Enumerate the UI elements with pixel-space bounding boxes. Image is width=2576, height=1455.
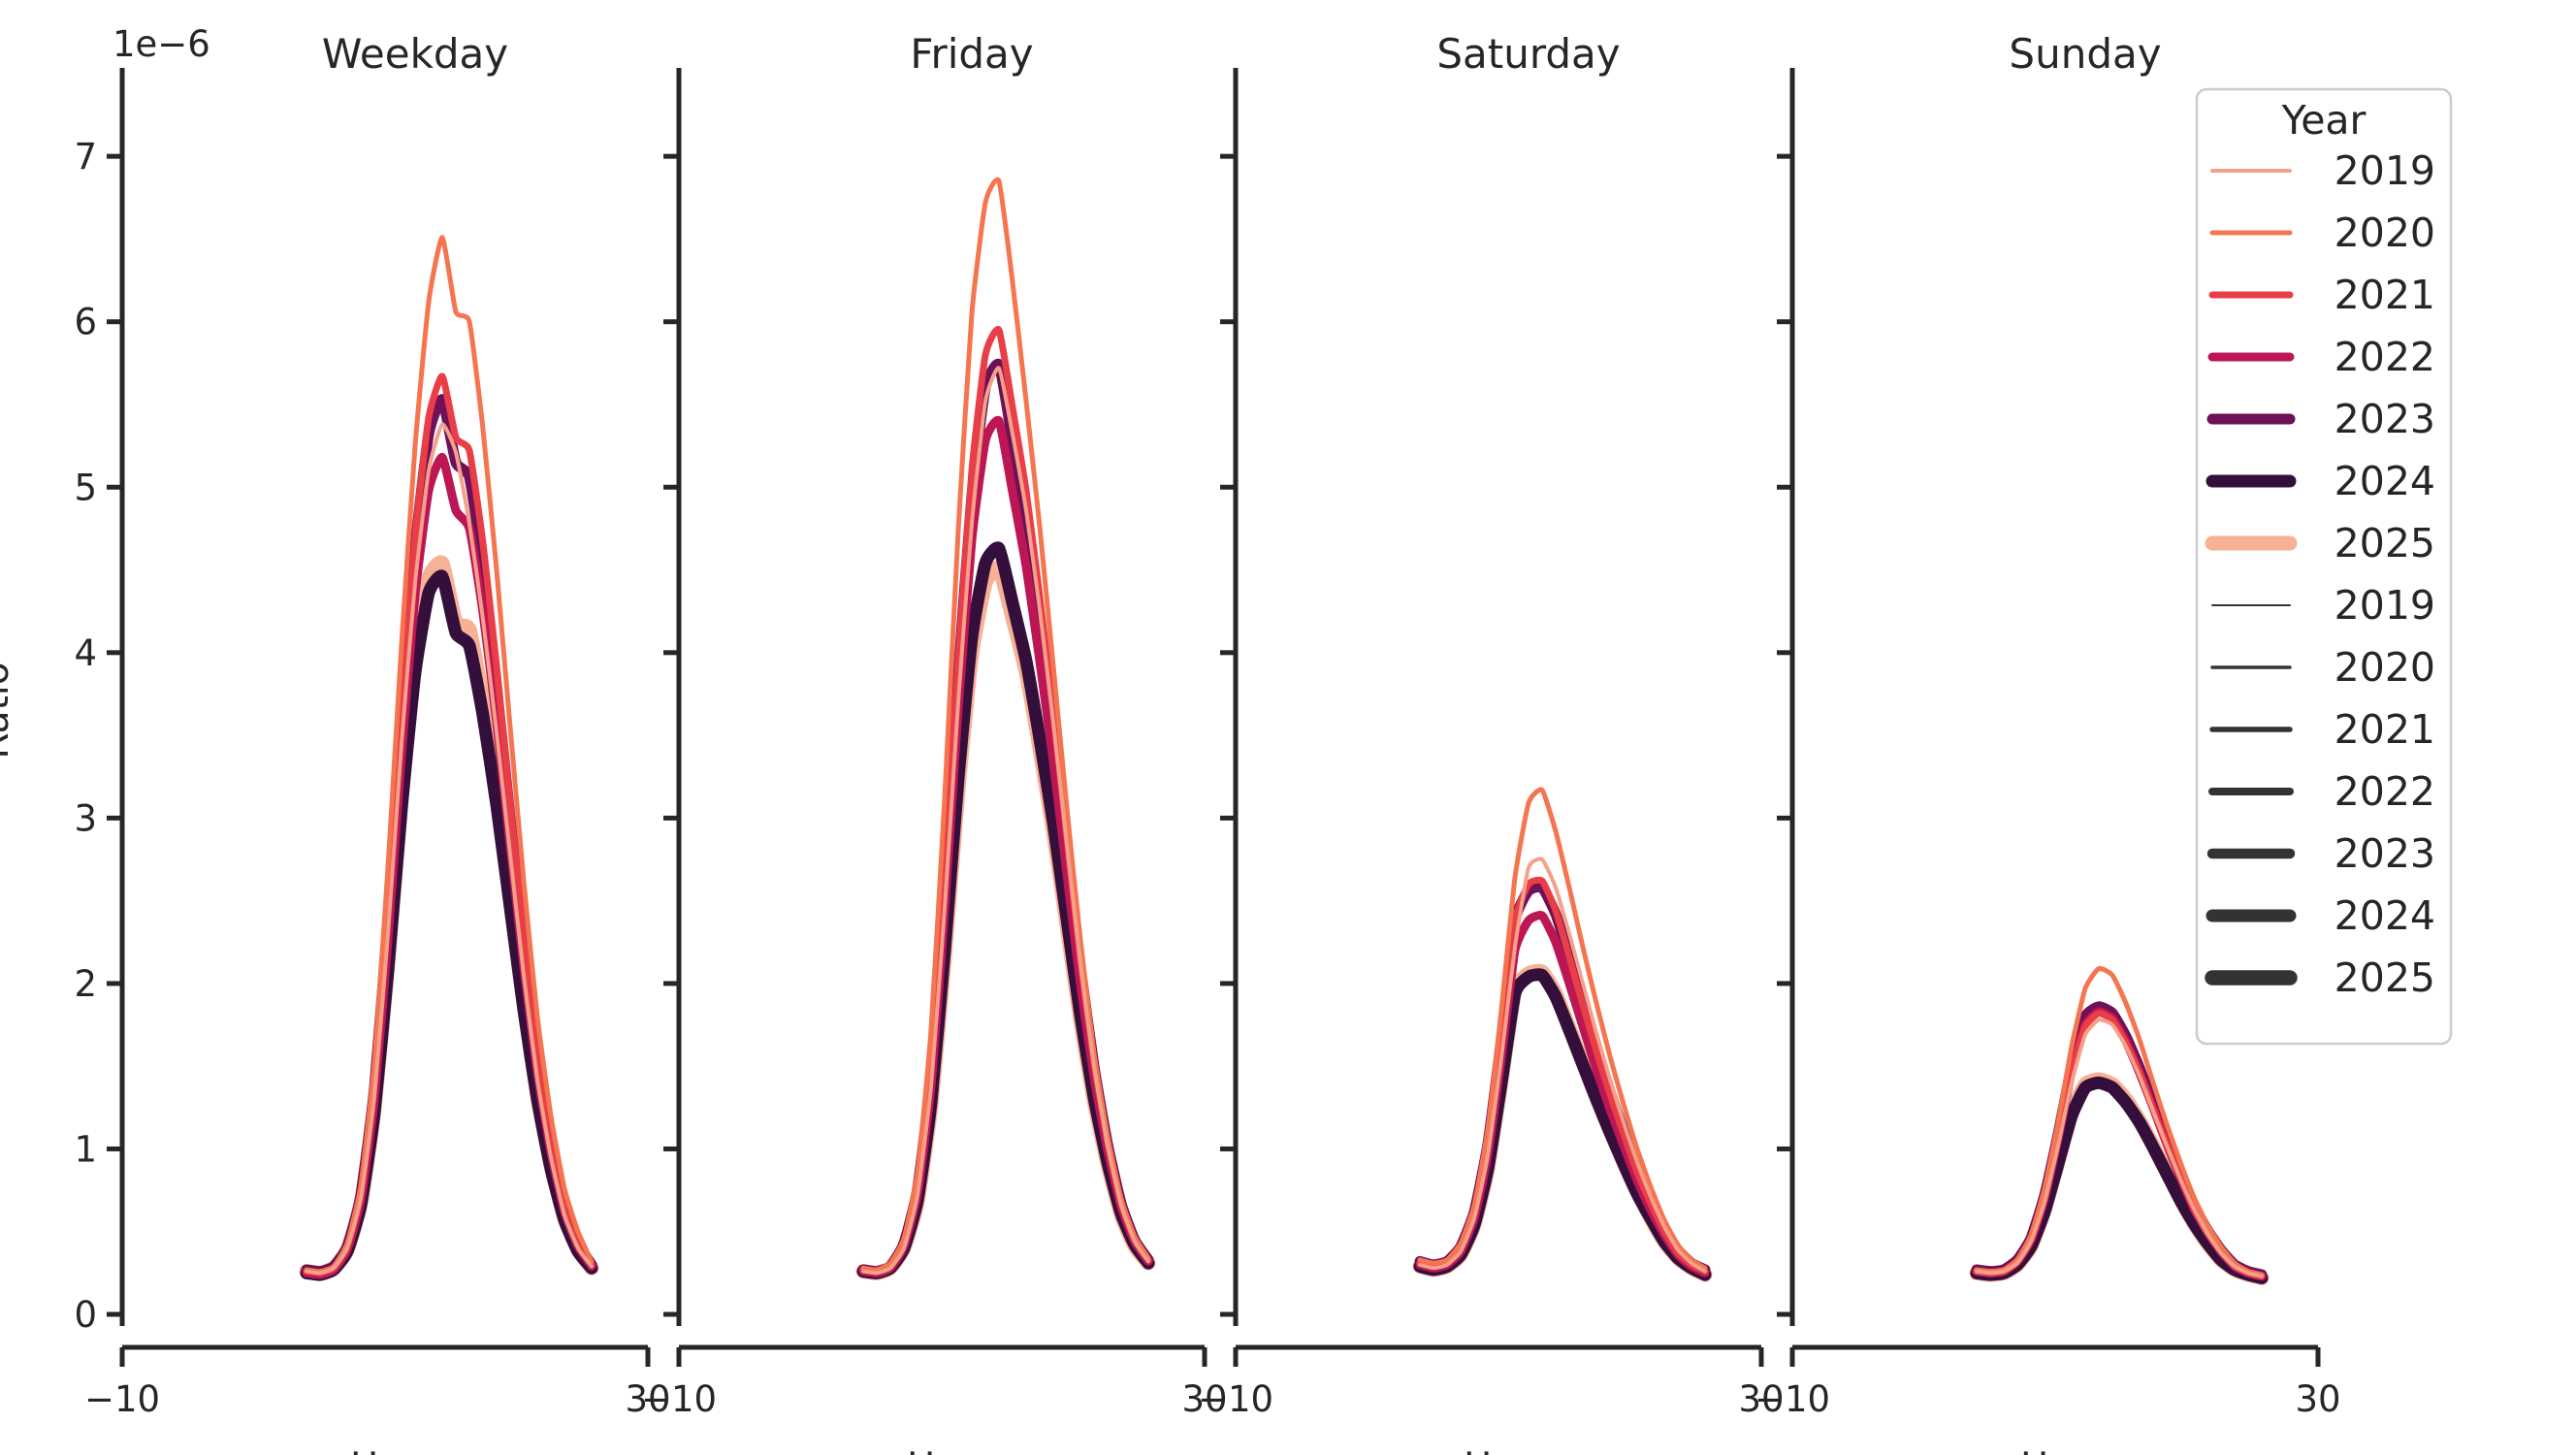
y-axis-label: Ratio	[0, 662, 17, 759]
panel-saturday: Saturday−1030Hour	[1198, 30, 1785, 1455]
x-axis-label: Hour	[907, 1445, 999, 1455]
legend-label-2025: 2025	[2334, 954, 2435, 1001]
series-lines	[306, 238, 592, 1275]
x-axis-label: Hour	[350, 1445, 442, 1455]
y-tick-label: 7	[74, 136, 97, 178]
y-ticks: 01234567	[74, 136, 122, 1336]
panel-title-weekday: Weekday	[322, 30, 508, 78]
x-tick-label: 30	[2295, 1378, 2340, 1420]
figure-canvas: Weekday01234567−1030Hour1e−6RatioFriday−…	[0, 0, 2576, 1455]
x-ticks: −1030	[641, 1347, 1228, 1420]
x-tick-label: −10	[84, 1378, 160, 1420]
y-tick-label: 5	[74, 467, 97, 508]
series-line-2023	[1977, 1007, 2262, 1275]
y-tick-label: 1	[74, 1128, 97, 1170]
legend-label-2021: 2021	[2334, 272, 2435, 318]
y-tick-label: 4	[74, 632, 97, 674]
panel-weekday: Weekday01234567−1030Hour1e−6Ratio	[0, 23, 671, 1455]
legend-label-2020: 2020	[2334, 210, 2435, 256]
series-lines	[863, 179, 1148, 1273]
y-axis-offset-text: 1e−6	[113, 23, 210, 65]
legend-label-2020: 2020	[2334, 644, 2435, 691]
legend-label-2024: 2024	[2334, 458, 2435, 504]
panel-title-friday: Friday	[910, 30, 1033, 78]
y-tick-label: 3	[74, 797, 97, 839]
x-axis-label: Hour	[1464, 1445, 1556, 1455]
legend-title: Year	[2281, 97, 2367, 144]
y-tick-label: 6	[74, 302, 97, 343]
series-line-2019	[306, 424, 592, 1273]
series-line-2024	[306, 576, 592, 1275]
legend-label-2023: 2023	[2334, 830, 2435, 877]
x-ticks: −1030	[1198, 1347, 1785, 1420]
series-line-2024	[863, 548, 1148, 1274]
series-line-2019	[1977, 1019, 2262, 1276]
x-ticks: −1030	[1755, 1347, 2341, 1420]
legend[interactable]: Year201920202021202220232024202520192020…	[2197, 89, 2451, 1044]
x-tick-label: −10	[641, 1378, 717, 1420]
x-axis-label: Hour	[2020, 1445, 2112, 1455]
x-ticks: −1030	[84, 1347, 671, 1420]
panel-title-saturday: Saturday	[1436, 30, 1620, 78]
y-tick-label: 2	[74, 963, 97, 1005]
legend-label-2019: 2019	[2334, 147, 2435, 194]
series-line-2021	[1977, 1014, 2262, 1277]
x-tick-label: −10	[1755, 1378, 1830, 1420]
x-tick-label: −10	[1198, 1378, 1273, 1420]
series-line-2022	[1977, 1012, 2262, 1277]
series-line-2019	[863, 368, 1148, 1273]
legend-label-2021: 2021	[2334, 706, 2435, 753]
multi-panel-line-chart: Weekday01234567−1030Hour1e−6RatioFriday−…	[0, 0, 2576, 1455]
panel-title-sunday: Sunday	[2009, 30, 2161, 78]
y-tick-label: 0	[74, 1294, 97, 1336]
legend-label-2024: 2024	[2334, 892, 2435, 939]
legend-label-2022: 2022	[2334, 334, 2435, 380]
legend-label-2025: 2025	[2334, 520, 2435, 566]
legend-label-2023: 2023	[2334, 396, 2435, 442]
series-lines	[1420, 790, 1705, 1275]
legend-label-2019: 2019	[2334, 582, 2435, 629]
panel-friday: Friday−1030Hour	[641, 30, 1228, 1455]
legend-label-2022: 2022	[2334, 768, 2435, 815]
